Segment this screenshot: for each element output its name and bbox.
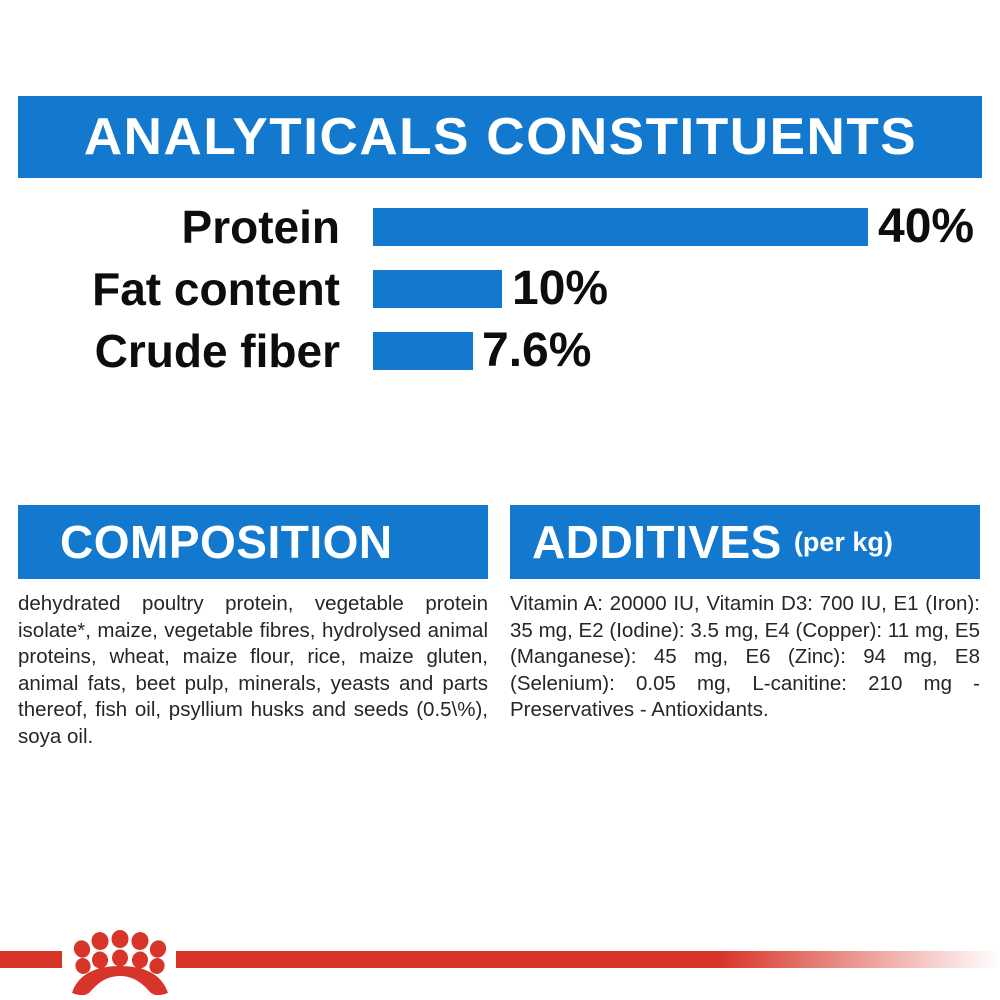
bar-fill-crude-fiber xyxy=(373,332,473,370)
composition-header-band: COMPOSITION xyxy=(18,505,488,579)
bar-row: Protein 40% xyxy=(0,196,1000,258)
additives-heading: ADDITIVES xyxy=(532,515,782,569)
bar-label-protein: Protein xyxy=(182,196,340,258)
bar-fill-fat-content xyxy=(373,270,502,308)
bar-track-crude-fiber xyxy=(373,332,473,370)
analyticals-heading: ANALYTICALS CONSTITUENTS xyxy=(83,107,916,167)
footer-stripe-right xyxy=(176,951,1000,968)
footer-brand-mark xyxy=(0,930,1000,1000)
bar-track-protein xyxy=(373,208,868,246)
bar-value-protein: 40% xyxy=(878,196,974,258)
royal-canin-crown-icon xyxy=(62,930,178,1000)
composition-body-text: dehydrated poultry protein, vegetable pr… xyxy=(18,591,488,750)
analyticals-bar-chart: Protein 40% Fat content 10% Crude fiber … xyxy=(0,196,1000,396)
additives-body-text: Vitamin A: 20000 IU, Vitamin D3: 700 IU,… xyxy=(510,591,980,724)
bar-row: Crude fiber 7.6% xyxy=(0,320,1000,382)
composition-panel: COMPOSITION dehydrated poultry protein, … xyxy=(18,505,488,750)
additives-subheading: (per kg) xyxy=(794,527,893,558)
bar-value-crude-fiber: 7.6% xyxy=(482,320,591,382)
bar-track-fat-content xyxy=(373,270,502,308)
additives-panel: ADDITIVES (per kg) Vitamin A: 20000 IU, … xyxy=(510,505,980,724)
bar-fill-protein xyxy=(373,208,868,246)
bar-label-fat-content: Fat content xyxy=(92,258,340,320)
composition-heading: COMPOSITION xyxy=(60,515,393,569)
bar-label-crude-fiber: Crude fiber xyxy=(95,320,340,382)
additives-header-band: ADDITIVES (per kg) xyxy=(510,505,980,579)
footer-stripe-left xyxy=(0,951,62,968)
bar-row: Fat content 10% xyxy=(0,258,1000,320)
analyticals-header-band: ANALYTICALS CONSTITUENTS xyxy=(18,96,982,178)
bar-value-fat-content: 10% xyxy=(512,258,608,320)
